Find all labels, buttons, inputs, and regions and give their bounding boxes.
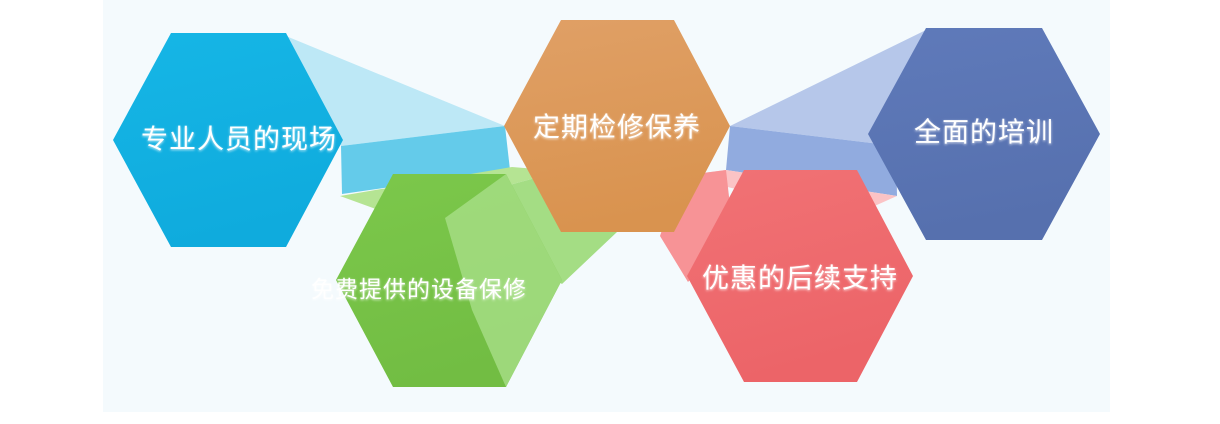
node-label-scheduled-maintenance: 定期检修保养	[533, 113, 701, 144]
node-label-free-equipment-warranty: 免费提供的设备保修	[311, 277, 527, 303]
node-label-professional-onsite: 专业人员的现场	[141, 125, 337, 156]
node-label-comprehensive-training: 全面的培训	[914, 118, 1054, 149]
infographic-canvas: 免费提供的设备保修 优惠的后续支持 专业人员的现场 定期检修保养 全面的培训	[0, 0, 1220, 424]
node-label-discounted-followup-support: 优惠的后续支持	[702, 264, 898, 295]
hexagon-diagram: 免费提供的设备保修 优惠的后续支持 专业人员的现场 定期检修保养 全面的培训	[0, 0, 1220, 424]
